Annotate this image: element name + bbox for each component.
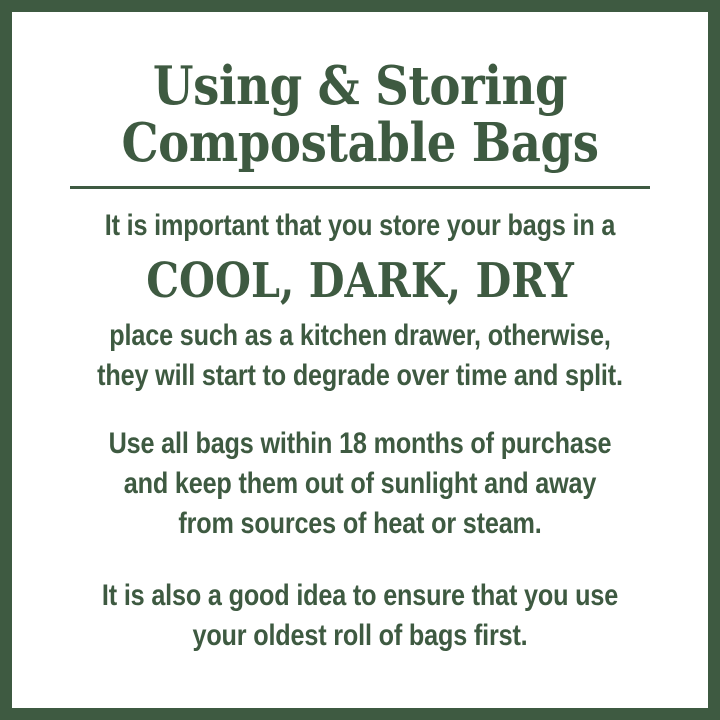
page-title-line-1: Using & Storing: [61, 58, 659, 115]
body-line: and keep them out of sunlight and away: [74, 464, 645, 504]
body-line: It is important that you store your bags…: [74, 206, 645, 246]
paragraph-storage-instructions: It is important that you store your bags…: [20, 206, 700, 396]
body-line: It is also a good idea to ensure that yo…: [74, 576, 645, 616]
body-line: from sources of heat or steam.: [74, 504, 645, 544]
title-divider: [70, 186, 650, 189]
paragraph-rotation-tip: It is also a good idea to ensure that yo…: [20, 576, 700, 656]
page-title-line-2: Compostable Bags: [61, 115, 659, 172]
body-line: place such as a kitchen drawer, otherwis…: [74, 316, 645, 356]
body-line: they will start to degrade over time and…: [74, 356, 645, 396]
body-line: your oldest roll of bags first.: [74, 616, 645, 656]
emphasis-line: COOL, DARK, DRY: [68, 250, 653, 312]
poster-card: Using & Storing Compostable Bags It is i…: [0, 0, 720, 720]
body-line: Use all bags within 18 months of purchas…: [74, 424, 645, 464]
page-title: Using & Storing Compostable Bags: [20, 58, 700, 172]
paragraph-shelf-life-instructions: Use all bags within 18 months of purchas…: [20, 424, 700, 544]
poster-content: Using & Storing Compostable Bags It is i…: [12, 12, 708, 708]
